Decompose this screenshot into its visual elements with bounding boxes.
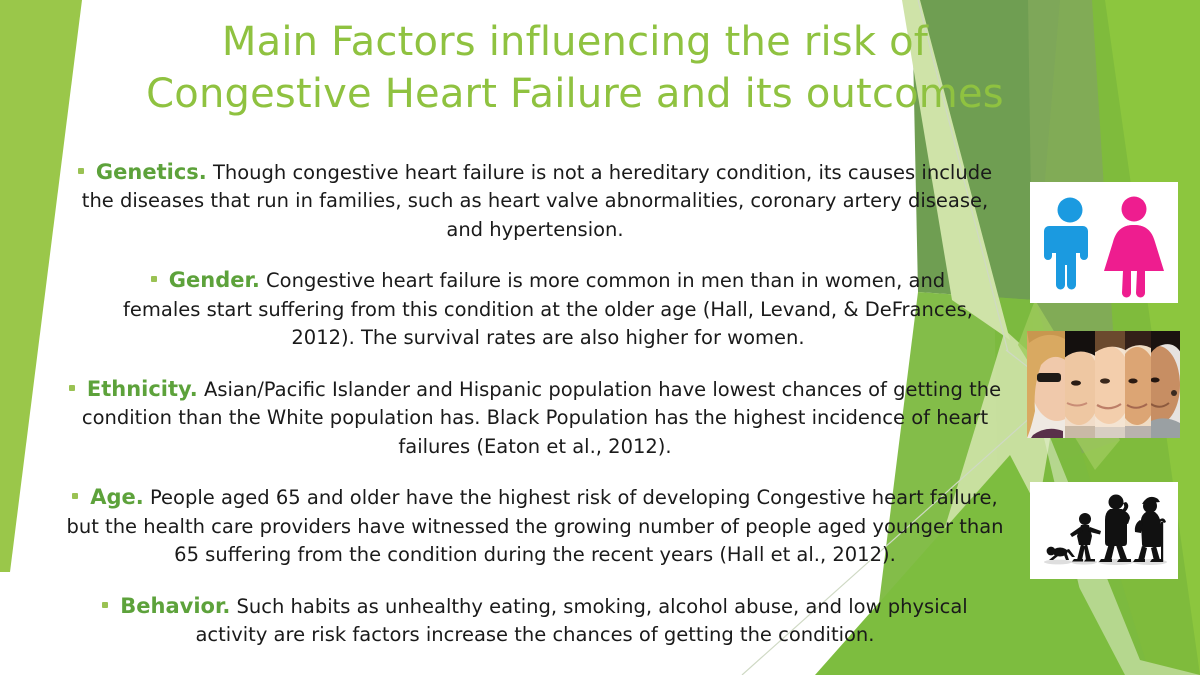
bullet-lead-genetics: Genetics. [96,160,207,184]
bullet-list: Genetics. Though congestive heart failur… [60,138,1010,650]
bullet-text-age: People aged 65 and older have the highes… [66,486,1003,566]
square-bullet-icon [151,276,157,282]
bullet-item-ethnicity: Ethnicity. Asian/Pacific Islander and Hi… [60,375,1010,462]
title-line-1: Main Factors influencing the risk of [70,16,1080,68]
square-bullet-icon [102,602,108,608]
bullet-item-genetics: Genetics. Though congestive heart failur… [60,158,1010,245]
ethnicity-faces-graphic [1027,331,1180,438]
title-line-2: Congestive Heart Failure and its outcome… [70,68,1080,120]
bullet-item-age: Age. People aged 65 and older have the h… [60,483,1010,570]
ethnicity-faces-image [1027,331,1180,438]
aging-stages-graphic [1030,482,1178,579]
bullet-text-genetics: Though congestive heart failure is not a… [82,161,992,241]
slide-title: Main Factors influencing the risk of Con… [70,16,1080,120]
square-bullet-icon [72,493,78,499]
bullet-lead-behavior: Behavior. [120,594,230,618]
bullet-text-behavior: Such habits as unhealthy eating, smoking… [195,595,967,647]
bullet-lead-age: Age. [90,485,144,509]
bullet-lead-ethnicity: Ethnicity. [87,377,198,401]
aging-stages-image [1030,482,1178,579]
bullet-lead-gender: Gender. [169,268,260,292]
square-bullet-icon [69,385,75,391]
gender-symbols-graphic [1030,182,1178,303]
gender-symbols-image [1030,182,1178,303]
bullet-item-behavior: Behavior. Such habits as unhealthy eatin… [60,592,1010,650]
presentation-slide: Main Factors influencing the risk of Con… [0,0,1200,675]
bullet-item-gender: Gender. Congestive heart failure is more… [112,266,984,353]
square-bullet-icon [78,168,84,174]
bullet-text-ethnicity: Asian/Pacific Islander and Hispanic popu… [82,378,1001,458]
